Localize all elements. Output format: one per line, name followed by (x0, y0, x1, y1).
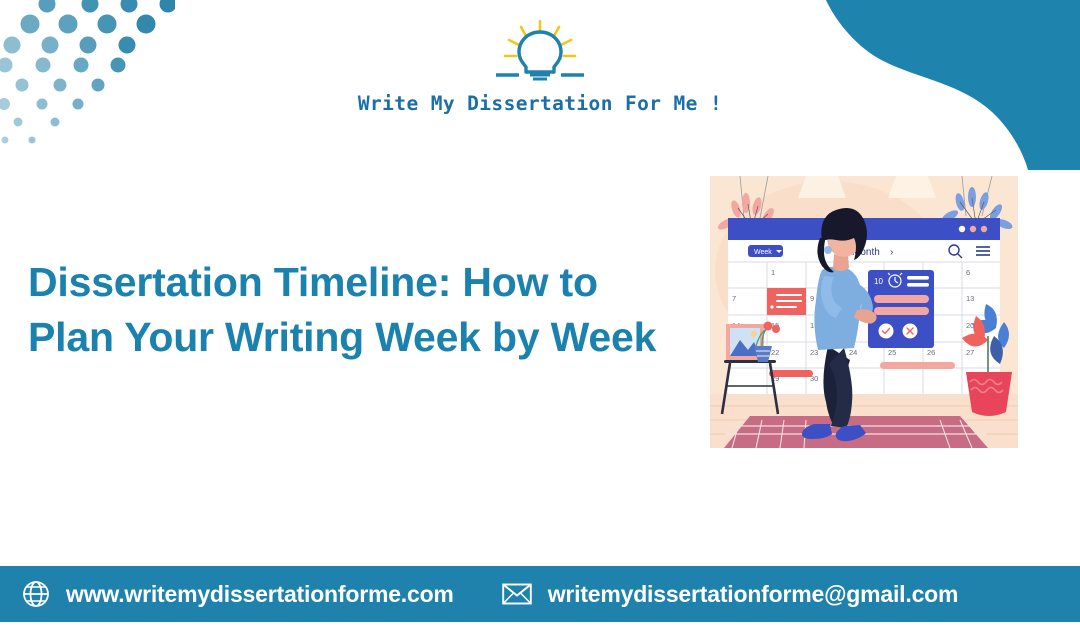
footer-email[interactable]: writemydissertationforme@gmail.com (502, 581, 959, 608)
svg-text:Week: Week (754, 249, 772, 256)
close-circle-icon (903, 324, 918, 339)
svg-text:13: 13 (966, 294, 974, 303)
contact-footer: www.writemydissertationforme.com writemy… (0, 566, 1080, 622)
banner-page: Write My Dissertation For Me ! Dissertat… (0, 0, 1080, 628)
check-circle-icon (879, 324, 894, 339)
footer-website[interactable]: www.writemydissertationforme.com (22, 580, 454, 608)
svg-text:23: 23 (810, 348, 818, 357)
globe-icon (22, 580, 50, 608)
window-dot (970, 226, 976, 232)
footer-email-text: writemydissertationforme@gmail.com (548, 581, 959, 608)
svg-text:›: › (890, 247, 893, 258)
svg-text:1: 1 (771, 268, 775, 277)
svg-text:6: 6 (966, 268, 970, 277)
svg-text:27: 27 (966, 348, 974, 357)
calendar-planning-illustration: Week Month › (710, 176, 1018, 448)
brand-logo-text: Write My Dissertation For Me ! (0, 92, 1080, 115)
svg-text:9: 9 (810, 294, 814, 303)
envelope-icon (502, 582, 532, 606)
lightbulb-icon (492, 18, 588, 90)
brand-logo[interactable]: Write My Dissertation For Me ! (0, 18, 1080, 115)
svg-text:24: 24 (849, 348, 857, 357)
svg-text:10: 10 (874, 277, 883, 286)
window-dot (981, 226, 987, 232)
svg-text:25: 25 (888, 348, 896, 357)
window-dot (959, 226, 965, 232)
svg-text:26: 26 (927, 348, 935, 357)
hero-illustration: Week Month › (710, 176, 1018, 448)
page-title-line-2: Your Writing Week by Week (124, 314, 656, 360)
footer-website-text: www.writemydissertationforme.com (66, 581, 454, 608)
svg-text:22: 22 (771, 348, 779, 357)
earring (824, 246, 832, 254)
page-title: Dissertation Timeline: How to Plan Your … (28, 255, 693, 364)
svg-text:7: 7 (732, 294, 736, 303)
